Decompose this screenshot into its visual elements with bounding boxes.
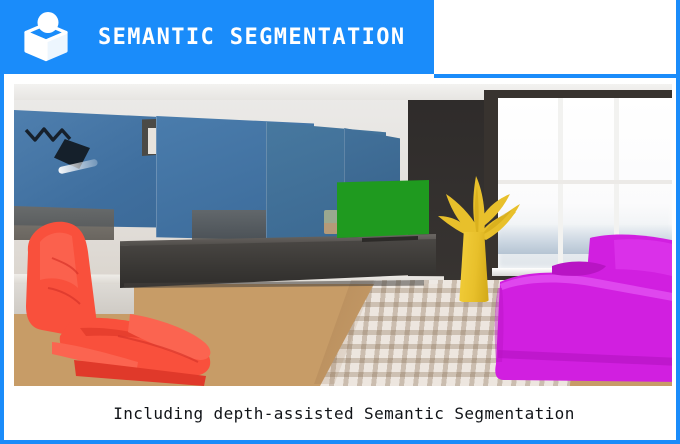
page-title: SEMANTIC SEGMENTATION [98, 25, 406, 50]
segment-armchair [18, 218, 224, 386]
segment-small-plant [324, 210, 338, 234]
segmentation-image [14, 84, 672, 386]
segment-television [337, 180, 429, 238]
header-top-rule [434, 74, 680, 78]
header-banner: SEMANTIC SEGMENTATION [4, 0, 434, 74]
caption-text: Including depth-assisted Semantic Segmen… [113, 404, 575, 423]
window-transom [498, 180, 672, 184]
caption-bar: Including depth-assisted Semantic Segmen… [8, 390, 680, 436]
semantic-segmentation-card: SEMANTIC SEGMENTATION [0, 0, 680, 444]
image-frame [14, 84, 672, 386]
segment-plant [432, 172, 524, 240]
segment-sofa [494, 232, 672, 386]
cube-with-sphere-icon [18, 9, 74, 65]
